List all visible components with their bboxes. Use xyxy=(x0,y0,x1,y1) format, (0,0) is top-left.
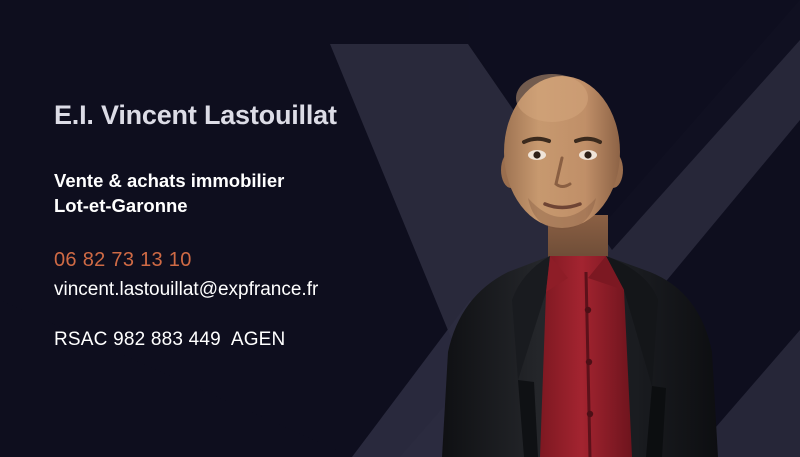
activity-line-2: Lot-et-Garonne xyxy=(54,193,284,218)
pupil-right xyxy=(584,151,591,158)
pupil-left xyxy=(533,151,540,158)
shirt-button xyxy=(586,359,592,365)
business-card: E.I. Vincent Lastouillat Vente & achats … xyxy=(0,0,800,457)
email-address[interactable]: vincent.lastouillat@expfrance.fr xyxy=(54,279,318,301)
person-name: E.I. Vincent Lastouillat xyxy=(54,100,337,131)
activity-description: Vente & achats immobilier Lot-et-Garonne xyxy=(54,168,284,218)
shirt-button xyxy=(587,411,593,417)
rsac-registration: RSAC 982 883 449 AGEN xyxy=(54,329,285,351)
scalp-highlight xyxy=(516,74,588,122)
activity-line-1: Vente & achats immobilier xyxy=(54,168,284,193)
contact-text-block: E.I. Vincent Lastouillat Vente & achats … xyxy=(54,0,414,457)
shirt-button xyxy=(585,307,591,313)
phone-number[interactable]: 06 82 73 13 10 xyxy=(54,249,192,272)
portrait-photo xyxy=(400,0,800,457)
